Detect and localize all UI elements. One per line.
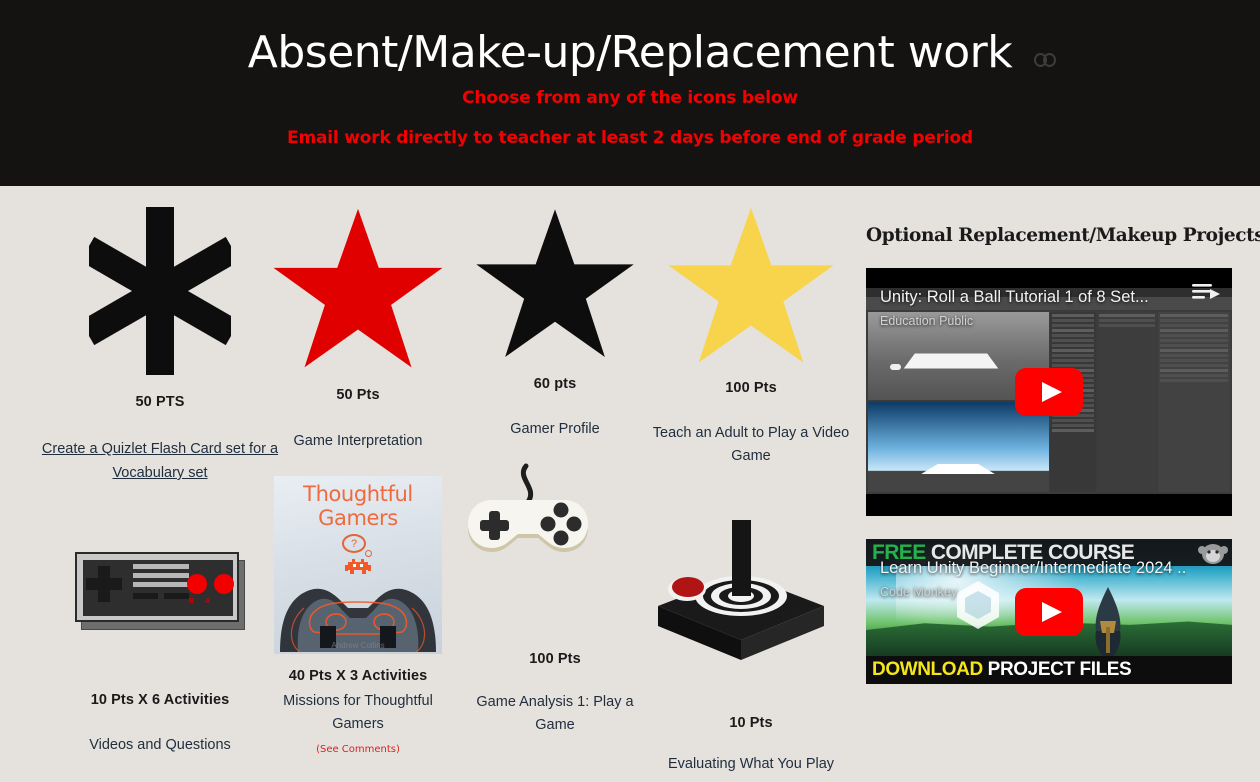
card-description: Evaluating What You Play: [652, 753, 850, 776]
thoughtful-gamers-book-cover: Thoughtful Gamers ?: [274, 476, 442, 654]
column-teach-an-adult: 100 Pts Teach an Adult to Play a Video G…: [652, 196, 850, 468]
asterisk-icon: [40, 196, 280, 386]
header-subtitle-2: Email work directly to teacher at least …: [0, 128, 1260, 148]
video-card-unity-roll-a-ball[interactable]: Unity: Roll a Ball Tutorial 1 of 8 Set..…: [866, 268, 1232, 516]
video-card-learn-unity-code-monkey[interactable]: FREE COMPLETE COURSE DOWNLOAD PROJECT FI…: [866, 539, 1232, 684]
unity-logo-icon: [954, 579, 1002, 631]
letterbox-top: [866, 268, 1232, 288]
see-comments-note: (See Comments): [274, 744, 442, 755]
game-character-image: [1084, 587, 1132, 661]
column-game-analysis: 100 Pts Game Analysis 1: Play a Game: [458, 460, 652, 737]
header-subtitle-1: Choose from any of the icons below: [0, 88, 1260, 108]
letterbox-bottom: [866, 494, 1232, 516]
card-description: Gamer Profile: [458, 418, 652, 441]
card-description: Teach an Adult to Play a Video Game: [652, 422, 850, 468]
card-description: Missions for Thoughtful Gamers: [274, 690, 442, 736]
video-title[interactable]: Unity: Roll a Ball Tutorial 1 of 8 Set..…: [880, 288, 1186, 307]
points-label: 40 Pts X 3 Activities: [274, 668, 442, 684]
points-label: 100 Pts: [652, 380, 850, 396]
column-evaluating-what-you-play: 10 Pts Evaluating What You Play: [652, 520, 850, 776]
nes-controller-icon: BA: [75, 552, 245, 630]
column-gamer-profile: 60 pts Gamer Profile: [458, 196, 652, 441]
points-label: 10 Pts X 6 Activities: [40, 692, 280, 708]
download-rest-text: PROJECT FILES: [983, 659, 1132, 680]
card-description: Videos and Questions: [40, 734, 280, 757]
column-thoughtful-gamers: Thoughtful Gamers ?: [274, 476, 442, 755]
optional-projects-panel: Optional Replacement/Makeup Projects: [866, 225, 1232, 684]
video-title[interactable]: Learn Unity Beginner/Intermediate 2024 .…: [880, 559, 1186, 578]
optional-projects-heading: Optional Replacement/Makeup Projects: [866, 225, 1232, 246]
star-icon: [262, 196, 454, 382]
points-label: 50 PTS: [40, 394, 280, 410]
star-icon: [458, 196, 652, 372]
book-credit: Andrew Collins: [274, 641, 442, 650]
points-label: 10 Pts: [652, 715, 850, 731]
column-videos-questions: BA 10 Pts X 6 Activities Videos and Ques…: [40, 552, 280, 757]
card-description: Game Analysis 1: Play a Game: [458, 691, 652, 737]
gamepad-icon: [458, 460, 598, 578]
points-label: 100 Pts: [458, 651, 652, 667]
watch-later-queue-icon[interactable]: [1192, 282, 1222, 304]
video-channel[interactable]: Code Monkey: [880, 585, 957, 599]
column-quizlet: 50 PTS Create a Quizlet Flash Card set f…: [40, 196, 280, 486]
card-description: Game Interpretation: [262, 430, 454, 453]
column-game-interpretation: 50 Pts Game Interpretation: [262, 196, 454, 453]
download-highlight-text: DOWNLOAD: [872, 659, 983, 680]
joystick-icon: [652, 520, 830, 672]
video-channel[interactable]: Education Public: [880, 314, 973, 328]
code-monkey-logo-icon: [1198, 540, 1228, 565]
star-icon: [652, 196, 850, 376]
book-title-line-2: Gamers: [274, 506, 442, 530]
quizlet-link[interactable]: Create a Quizlet Flash Card set for a Vo…: [40, 438, 280, 486]
link-icon: [1034, 53, 1056, 67]
points-label: 50 Pts: [262, 387, 454, 403]
page-title: Absent/Make-up/Replacement work: [0, 28, 1260, 79]
youtube-play-icon[interactable]: [1015, 588, 1083, 636]
page-header: Absent/Make-up/Replacement work Choose f…: [0, 0, 1260, 186]
download-project-files-banner: DOWNLOAD PROJECT FILES: [866, 656, 1232, 684]
youtube-play-icon[interactable]: [1015, 368, 1083, 416]
book-title-line-1: Thoughtful: [274, 482, 442, 506]
poster-page: Absent/Make-up/Replacement work Choose f…: [0, 0, 1260, 782]
points-label: 60 pts: [458, 376, 652, 392]
hands-holding-controller-image: [274, 548, 442, 654]
